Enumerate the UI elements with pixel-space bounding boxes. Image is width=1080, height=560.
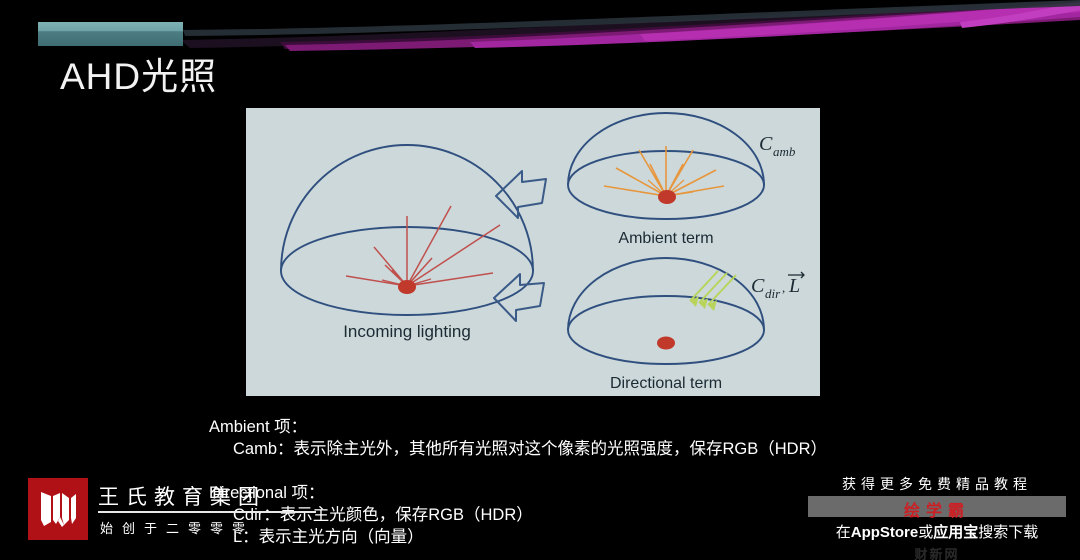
line3-or: 或 [918,524,933,541]
top-decorative-ribbon [0,0,1080,52]
watermark-right-line4: 财新网 [806,544,1068,560]
watermark-left: 王氏教育集团 始创于二零零零 [28,478,328,548]
l-vector-symbol: L [788,275,800,297]
directional-label: Directional term [610,375,722,392]
lighting-diagram-panel: Incoming lighting [246,108,820,396]
w-monogram-icon [36,487,80,531]
c-amb-symbol: C [759,133,773,155]
c-dir-comma: , [782,280,785,295]
watermark-right-app-name: 绘学霸 [808,497,1066,521]
watermark-right-line1: 获得更多免费精品教程 [806,474,1068,494]
wangshi-logo-icon [28,478,88,540]
lighting-diagram: Incoming lighting [246,108,820,396]
watermark-left-tagline: 始创于二零零零 [100,518,254,537]
page-title: AHD光照 [60,58,217,95]
c-dir-subscript: dir [765,286,781,301]
incoming-label: Incoming lighting [343,322,471,341]
teal-accent-block [38,22,183,46]
c-amb-subscript: amb [773,144,796,159]
ambient-label: Ambient term [618,230,713,247]
watermark-right-line3: 在AppStore或应用宝搜索下载 [806,521,1068,542]
ambient-heading: Ambient 项： [209,419,307,436]
line3-app: AppStore [851,524,919,541]
line3-suffix: 搜索下载 [978,524,1038,541]
watermark-left-divider [98,511,316,513]
ambient-detail: Camb：表示除主光外，其他所有光照对这个像素的光照强度，保存RGB（HDR） [233,441,827,458]
watermark-left-brand: 王氏教育集团 [98,481,266,511]
line3-store: 应用宝 [933,524,978,541]
watermark-right: 获得更多免费精品教程 绘学霸 在AppStore或应用宝搜索下载 财新网 [806,474,1068,546]
line3-prefix: 在 [836,524,851,541]
c-dir-symbol: C [751,275,765,297]
